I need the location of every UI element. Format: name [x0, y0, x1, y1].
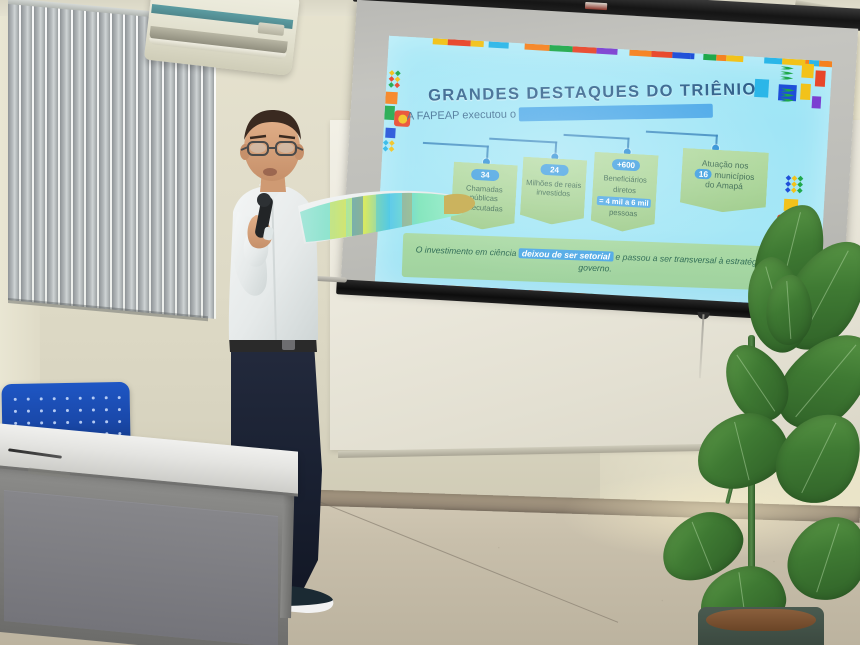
slide-decorations [389, 36, 832, 62]
highlight-box-2-text: Milhões de reais investidos [521, 178, 586, 200]
deco-segment [572, 46, 596, 53]
deco-segment [743, 56, 764, 63]
deco-strip-top [389, 36, 833, 68]
chair-perforation-dot [53, 409, 56, 412]
highlight-box-1-badge: 34 [471, 169, 500, 182]
chair-perforation-dot [53, 421, 56, 424]
deco-tile [385, 128, 396, 139]
slide-footer-prefix: O investimento em ciência [416, 244, 519, 258]
chair-perforation-dot [92, 408, 95, 411]
blind-slat [21, 5, 32, 302]
deco-segment [596, 48, 617, 55]
timeline-line-3 [564, 134, 630, 139]
chair-perforation-dot [53, 397, 56, 400]
highlight-box-3-badge: +600 [612, 159, 641, 172]
chair-perforation-dot [118, 396, 121, 399]
deco-segment [549, 45, 572, 52]
plant-leaf-9 [779, 505, 860, 610]
deco-segment [629, 50, 651, 57]
highlight-box-1-text: Chamadas públicas executadas [451, 183, 517, 215]
slide-subtitle: A FAPEAP executou o maior ciclo de fomen… [407, 105, 713, 123]
highlight-box-2-badge: 24 [540, 164, 569, 177]
deco-segment [819, 61, 832, 68]
ac-brand-badge [258, 22, 285, 36]
chair-perforation-dot [27, 410, 30, 413]
diamond-pattern [382, 140, 397, 153]
screen-housing-label [585, 2, 607, 10]
highlight-box-4-line3: do Amapá [705, 179, 743, 191]
deco-segment [471, 40, 484, 47]
blind-slat [112, 13, 123, 310]
chair-perforation-dot [66, 421, 69, 424]
blind-slat [34, 6, 45, 303]
diamond-pattern [388, 70, 403, 89]
slide-subtitle-prefix: A FAPEAP executou o [407, 108, 520, 122]
chair-perforation-dot [66, 397, 69, 400]
deco-segment [716, 55, 726, 62]
deco-tile [800, 83, 811, 100]
blind-slat [138, 16, 149, 313]
deco-segment [433, 38, 448, 45]
deco-segment [651, 51, 672, 58]
deco-segment [508, 43, 524, 50]
chair-perforation-dot [79, 397, 82, 400]
blind-slat [73, 10, 84, 307]
deco-segment [448, 39, 471, 46]
deco-segment [703, 54, 716, 61]
chair-perforation-dot [79, 421, 82, 424]
highlight-box-1: 34 Chamadas públicas executadas [450, 162, 518, 232]
deco-segment [764, 57, 782, 64]
slide-title: GRANDES DESTAQUES DO TRIÊNIO [428, 80, 757, 105]
chair-perforation-dot [118, 408, 121, 411]
highlight-box-4-badge: 16 [694, 168, 712, 180]
diamond-pattern [785, 175, 807, 194]
deco-tile [385, 92, 398, 105]
deco-segment [489, 41, 509, 48]
chair-perforation-dot [92, 420, 95, 423]
chair-perforation-dot [40, 397, 43, 400]
blind-slat [99, 12, 110, 309]
blind-slat [60, 9, 71, 306]
deco-segment [726, 55, 743, 62]
chair-perforation-dot [66, 409, 69, 412]
slide-footer-highlight: deixou de ser setorial [519, 248, 614, 261]
chair-perforation-dot [118, 420, 121, 423]
deco-tile [815, 70, 826, 87]
chevron-icon [780, 88, 795, 104]
highlight-box-3-highlight: = 4 mil a 6 mil [597, 196, 651, 208]
chevron-icon [779, 66, 794, 82]
timeline-line-4 [646, 131, 718, 137]
chair-perforation-dot [14, 398, 17, 401]
chair-perforation-dot [79, 409, 82, 412]
chair-perforation-dot [14, 410, 17, 413]
chair-perforation-dot [92, 396, 95, 399]
blind-slat [151, 17, 162, 314]
chair-perforation-dot [27, 422, 30, 425]
highlight-box-2: 24 Milhões de reais investidos [519, 157, 587, 227]
highlight-box-4-text: Atuação nos 16 municípios do Amapá [680, 148, 768, 198]
deco-segment [672, 52, 690, 59]
blind-slat [125, 15, 136, 312]
presentation-photo: GRANDES DESTAQUES DO TRIÊNIO A FAPEAP ex… [0, 0, 860, 645]
highlight-box-4: Atuação nos 16 municípios do Amapá [680, 148, 769, 215]
chair-perforation-dot [40, 421, 43, 424]
deco-segment [524, 44, 549, 51]
blind-slat [47, 8, 58, 305]
chair-perforation-dot [105, 396, 108, 399]
slide-subtitle-highlight: maior ciclo de fomento de sua história [519, 104, 712, 122]
plant-soil [706, 609, 816, 631]
desk-inset-panel [4, 490, 278, 645]
deco-tile [812, 96, 822, 108]
timeline-line-1 [423, 142, 489, 147]
deco-tile [801, 64, 814, 79]
chair-perforation-dot [105, 420, 108, 423]
timeline-line-2 [489, 138, 557, 143]
blind-slat [86, 11, 97, 308]
deco-segment [389, 36, 410, 43]
chair-perforation-dot [27, 398, 30, 401]
deco-segment [410, 37, 433, 44]
chair-perforation-dot [105, 408, 108, 411]
deco-segment [617, 49, 629, 56]
blind-slat [8, 4, 19, 301]
potted-plant [640, 215, 860, 645]
chair-perforation-dot [40, 409, 43, 412]
